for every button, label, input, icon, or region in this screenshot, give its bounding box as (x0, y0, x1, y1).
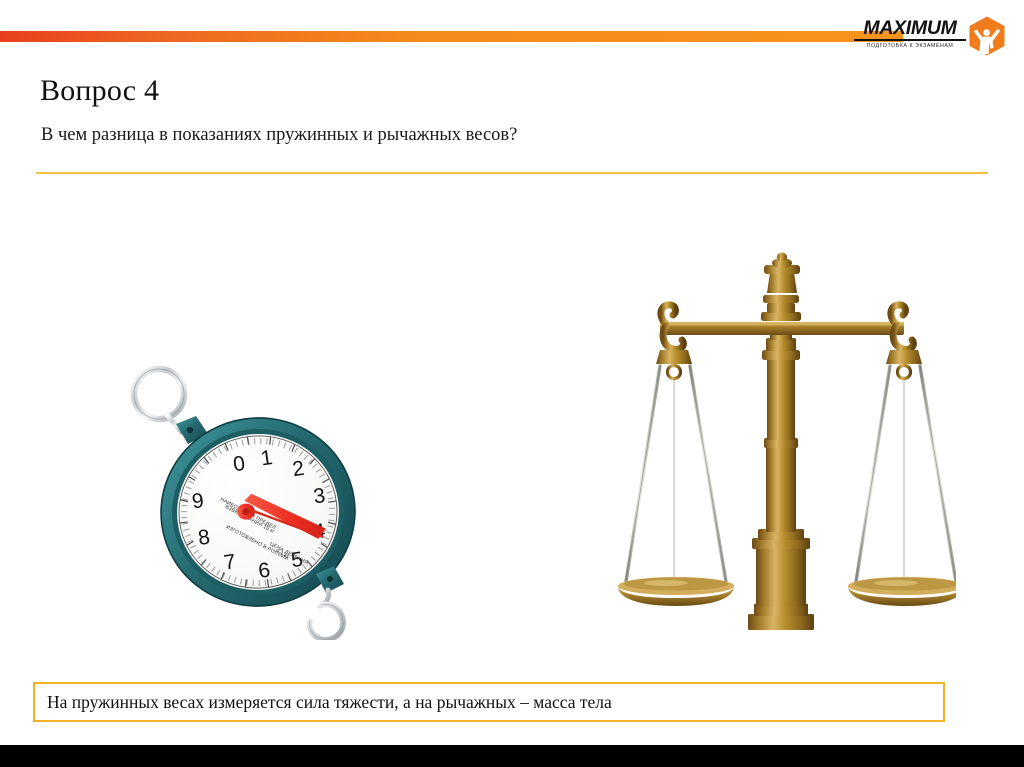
balance-base (748, 529, 814, 630)
question-text: В чем разница в показаниях пружинных и р… (41, 125, 517, 146)
balance-chains-left (626, 366, 726, 586)
title-divider (36, 172, 988, 174)
hexagon-person-icon (966, 15, 1008, 57)
logo-wordmark: MAXIMUM (854, 18, 966, 41)
spring-scale-ring (134, 369, 184, 432)
brand-logo: MAXIMUM ПОДГОТОВКА К ЭКЗАМЕНАМ (854, 14, 1010, 58)
answer-box: На пружинных весах измеряется сила тяжес… (33, 682, 945, 722)
logo-tagline: ПОДГОТОВКА К ЭКЗАМЕНАМ (854, 43, 966, 49)
spring-scale-image: 0 1 2 3 4 5 6 7 8 9 НАИБОЛЬШИЙ ПРЕДЕЛ ВЗ… (118, 362, 386, 640)
balance-pan-left (618, 577, 734, 606)
balance-beam (660, 322, 904, 335)
balance-pan-right (848, 577, 956, 606)
page-title: Вопрос 4 (40, 74, 159, 108)
header-accent-bar (0, 31, 903, 42)
footer-bar (0, 745, 1024, 767)
balance-chains-right (856, 366, 956, 586)
answer-text: На пружинных весах измеряется сила тяжес… (35, 692, 612, 713)
balance-scale-image (604, 246, 956, 642)
balance-finial (764, 253, 800, 294)
